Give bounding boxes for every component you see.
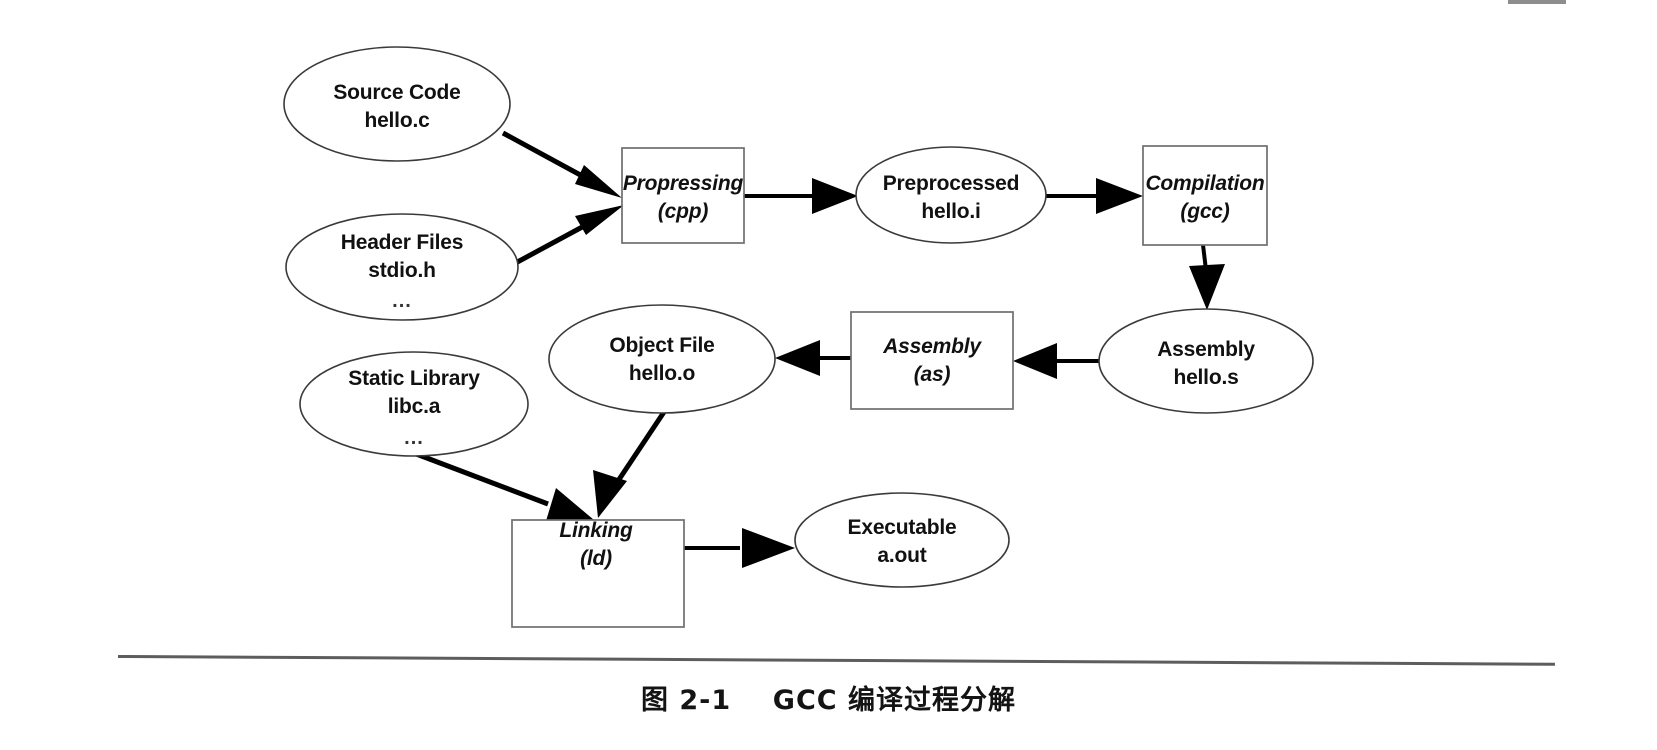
node-preprocessing[interactable]: Propressing (cpp) — [622, 148, 744, 243]
node-executable[interactable]: Executable a.out — [795, 493, 1009, 587]
node-executable-line1: Executable — [848, 516, 957, 539]
node-preprocessing-line1: Propressing — [623, 172, 744, 195]
edge-preprocessed-to-compilation — [1046, 178, 1143, 214]
node-source-code-line1: Source Code — [333, 81, 460, 104]
edge-source-to-preprocessing — [503, 133, 622, 198]
node-source-code-line2: hello.c — [364, 109, 430, 132]
figure-container: Propressing (cpp) Compilation (gcc) Asse… — [0, 0, 1657, 750]
caption-divider-line — [118, 655, 1555, 666]
node-assembly-file-line1: Assembly — [1157, 338, 1255, 361]
node-object-file-line1: Object File — [609, 334, 714, 357]
figure-caption: 图 2-1 GCC 编译过程分解 — [0, 678, 1657, 717]
node-assembly-stage[interactable]: Assembly (as) — [851, 312, 1013, 409]
edge-assembly-file-to-assembly-stage — [1013, 343, 1099, 379]
edge-preprocessing-to-preprocessed — [744, 178, 858, 214]
caption-divider-rule — [118, 655, 1555, 669]
node-static-library-ellipsis: ... — [404, 427, 424, 449]
node-preprocessed-line2: hello.i — [921, 200, 980, 223]
edge-linking-to-executable — [684, 528, 795, 568]
node-preprocessed-line1: Preprocessed — [883, 172, 1020, 195]
edge-static-library-to-linking — [411, 452, 594, 521]
node-linking-line1: Linking — [559, 519, 633, 542]
node-executable-line2: a.out — [877, 544, 926, 567]
node-static-library-line1: Static Library — [348, 367, 480, 390]
node-header-files[interactable]: Header Files stdio.h ... — [286, 214, 518, 320]
node-assembly-file-line2: hello.s — [1173, 366, 1238, 389]
node-compilation-line2: (gcc) — [1180, 200, 1229, 223]
node-linking-line2: (ld) — [580, 547, 612, 570]
node-preprocessed[interactable]: Preprocessed hello.i — [856, 147, 1046, 243]
node-preprocessing-line2: (cpp) — [658, 200, 709, 223]
node-object-file[interactable]: Object File hello.o — [549, 305, 775, 413]
node-header-files-ellipsis: ... — [392, 290, 412, 312]
node-header-files-line2: stdio.h — [368, 259, 435, 282]
edge-object-file-to-linking — [593, 412, 664, 518]
node-compilation-line1: Compilation — [1145, 172, 1264, 195]
node-object-file-line2: hello.o — [629, 362, 695, 385]
node-header-files-line1: Header Files — [341, 231, 464, 254]
edge-compilation-to-assembly-file — [1189, 245, 1225, 310]
node-compilation[interactable]: Compilation (gcc) — [1143, 146, 1267, 245]
node-assembly-stage-line1: Assembly — [882, 335, 982, 358]
edge-assembly-stage-to-object-file — [775, 340, 851, 376]
node-source-code[interactable]: Source Code hello.c — [284, 47, 510, 161]
node-assembly-file[interactable]: Assembly hello.s — [1099, 309, 1313, 413]
gcc-compilation-flowchart: Propressing (cpp) Compilation (gcc) Asse… — [0, 0, 1657, 750]
edge-header-to-preprocessing — [510, 205, 624, 266]
node-assembly-stage-line2: (as) — [914, 363, 951, 386]
node-static-library[interactable]: Static Library libc.a ... — [300, 352, 528, 456]
node-static-library-line2: libc.a — [388, 395, 441, 418]
node-linking[interactable]: Linking (ld) — [512, 519, 684, 627]
